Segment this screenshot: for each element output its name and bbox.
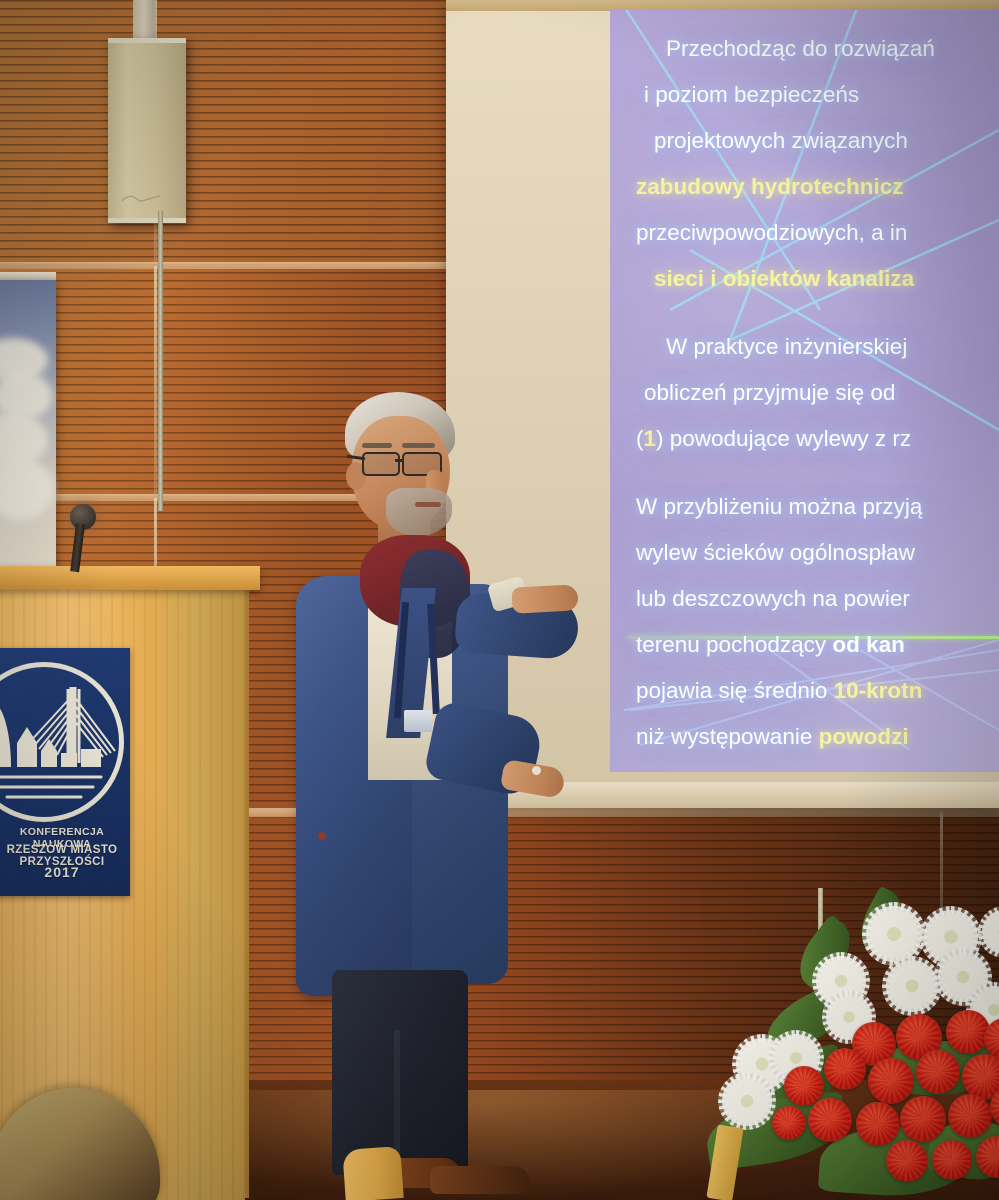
slide-line: terenu pochodzący od kan xyxy=(610,622,999,668)
wall-mounted-speaker-icon xyxy=(108,38,186,223)
red-flower xyxy=(808,1098,852,1142)
white-flower xyxy=(982,910,999,954)
red-flower xyxy=(824,1048,866,1090)
plaque-line-3: 2017 xyxy=(0,864,130,880)
red-flower xyxy=(932,1140,972,1180)
slide-text-run: zabudowy hydrotechnicz xyxy=(636,174,904,199)
speaker-support-pole xyxy=(158,211,163,511)
red-flower xyxy=(868,1058,914,1104)
slide-text-run: niż występowanie xyxy=(636,724,819,749)
bridge-skyline-icon xyxy=(0,667,119,817)
slide-text-run: projektowych związanych xyxy=(654,128,908,153)
slide-line: obliczeń przyjmuje się od xyxy=(610,370,999,416)
roll-up-banner xyxy=(0,280,56,580)
red-flower xyxy=(900,1096,946,1142)
white-flower xyxy=(722,1076,772,1126)
slide-text-run: obliczeń przyjmuje się od xyxy=(644,380,895,405)
slide-line: niż występowanie powodzi xyxy=(610,714,999,760)
white-flower xyxy=(886,960,938,1012)
trousers xyxy=(332,970,468,1175)
chair xyxy=(342,1146,403,1200)
red-flower xyxy=(948,1094,992,1138)
slide-line: wylew ścieków ogólnospław xyxy=(610,530,999,576)
conference-badge xyxy=(404,710,432,732)
slide-body-text: Przechodząc do rozwiązańi poziom bezpiec… xyxy=(610,26,999,760)
slide-text-run: przeciwpowodziowych, a in xyxy=(636,220,907,245)
slide-text-run: wylew ścieków ogólnospław xyxy=(636,540,915,565)
slide-text-run: od kan xyxy=(832,632,905,657)
slide-line: pojawia się średnio 10-krotn xyxy=(610,668,999,714)
eyebrow-right xyxy=(402,443,435,448)
ring xyxy=(532,766,541,775)
slide-text-run: W praktyce inżynierskiej xyxy=(666,334,907,359)
slide-text-run: ( xyxy=(636,426,644,451)
conference-photo-scene: KONFERENCJA NAUKOWA RZESZÓW MIASTO PRZYS… xyxy=(0,0,999,1200)
red-flower xyxy=(916,1050,960,1094)
red-flower xyxy=(886,1140,928,1182)
eyebrow-left xyxy=(362,443,392,448)
plaque-emblem-circle xyxy=(0,662,124,822)
beard xyxy=(386,488,452,536)
jacket-button xyxy=(318,832,326,840)
glasses-bridge xyxy=(395,459,404,462)
mouth xyxy=(415,502,441,507)
wall-seam-b xyxy=(154,266,157,496)
white-flower xyxy=(866,906,922,962)
slide-line: i poziom bezpieczeńs xyxy=(610,72,999,118)
slide-text-run: W przybliżeniu można przyją xyxy=(636,494,922,519)
slide-line: W przybliżeniu można przyją xyxy=(610,484,999,530)
conference-plaque: KONFERENCJA NAUKOWA RZESZÓW MIASTO PRZYS… xyxy=(0,648,130,896)
red-flower xyxy=(772,1106,806,1140)
slide-text-run: Przechodząc do rozwiązań xyxy=(666,36,935,61)
slide-text-run: powodzi xyxy=(819,724,909,749)
slide-line: lub deszczowych na powier xyxy=(610,576,999,622)
slide-text-run: 10-krotn xyxy=(834,678,923,703)
slide-text-run: lub deszczowych na powier xyxy=(636,586,910,611)
speaker-brand-logo xyxy=(120,192,162,204)
slide-line: projektowych związanych xyxy=(610,118,999,164)
shoe-right xyxy=(430,1166,530,1194)
slide-line: przeciwpowodziowych, a in xyxy=(610,210,999,256)
presentation-slide: Przechodząc do rozwiązańi poziom bezpiec… xyxy=(610,10,999,772)
slide-line: Przechodząc do rozwiązań xyxy=(610,26,999,72)
glasses-icon xyxy=(362,452,400,476)
red-flower xyxy=(946,1010,990,1054)
slide-line: sieci i obiektów kanaliza xyxy=(610,256,999,302)
slide-line: (1) powodujące wylewy z rz xyxy=(610,416,999,462)
slide-text-run: i poziom bezpieczeńs xyxy=(644,82,859,107)
slide-text-run: ) powodujące wylewy z rz xyxy=(656,426,911,451)
slide-text-run: pojawia się średnio xyxy=(636,678,834,703)
red-flower xyxy=(856,1102,900,1146)
presenter xyxy=(290,380,590,1200)
slide-text-run: terenu pochodzący xyxy=(636,632,832,657)
flower-bouquet xyxy=(700,890,999,1200)
slide-line: W praktyce inżynierskiej xyxy=(610,324,999,370)
podium-desktop xyxy=(0,566,260,590)
speaker-bracket xyxy=(133,0,155,40)
slide-text-run: 1 xyxy=(644,426,657,451)
slide-line: zabudowy hydrotechnicz xyxy=(610,164,999,210)
hand-gesturing xyxy=(511,584,578,613)
slide-text-run: sieci i obiektów kanaliza xyxy=(654,266,914,291)
